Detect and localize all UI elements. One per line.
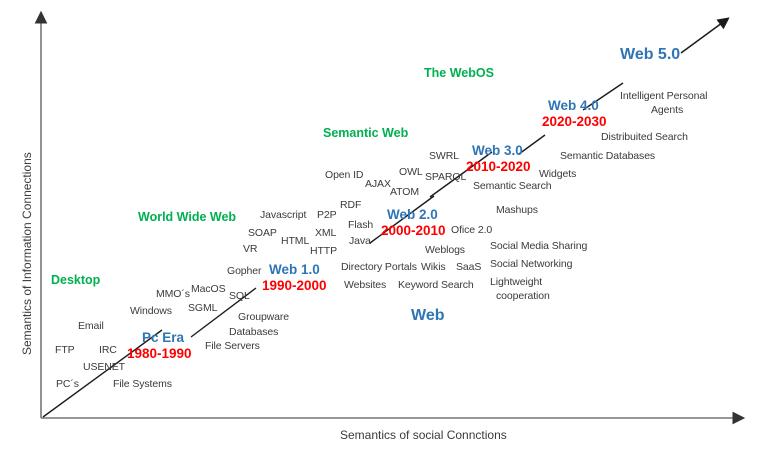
term-vr: VR: [243, 243, 257, 255]
term-open-id: Open ID: [325, 169, 363, 181]
heading-web: Web: [411, 307, 444, 325]
term-windows: Windows: [130, 305, 172, 317]
trend-segment-web4: [519, 135, 545, 154]
term-keyword-search: Keyword Search: [398, 279, 474, 291]
term-java: Java: [349, 235, 371, 247]
term-p2p: P2P: [317, 209, 337, 221]
trend-segment-arrow: [681, 20, 726, 53]
term-macos: MacOS: [191, 283, 226, 295]
term-xml: XML: [315, 227, 336, 239]
term-atom: ATOM: [390, 186, 419, 198]
term-social-media-sharing: Social Media Sharing: [490, 240, 587, 252]
heading-world-wide-web: World Wide Web: [138, 210, 236, 224]
term-saas: SaaS: [456, 261, 481, 273]
era-web5-title: Web 5.0: [620, 47, 680, 62]
term-weblogs: Weblogs: [425, 244, 465, 256]
term-mmos: MMO´s: [156, 288, 190, 300]
term-owl: OWL: [399, 166, 423, 178]
term-usenet: USENET: [83, 361, 125, 373]
term-databases: Databases: [229, 326, 278, 338]
term-html: HTML: [281, 235, 309, 247]
era-web3-title: Web 3.0: [472, 143, 523, 158]
term-swrl: SWRL: [429, 150, 459, 162]
term-widgets: Widgets: [539, 168, 576, 180]
term-directory-portals: Directory Portals: [341, 261, 417, 273]
era-web2-years: 2000-2010: [381, 223, 446, 238]
term-mashups: Mashups: [496, 204, 538, 216]
term-ajax: AJAX: [365, 178, 391, 190]
term-agents: Agents: [651, 104, 683, 116]
term-lightweight: Lightweight: [490, 276, 542, 288]
term-pcs: PC´s: [56, 378, 79, 390]
era-pc-era-years: 1980-1990: [127, 346, 192, 361]
term-distribuited-search: Distribuited Search: [601, 131, 688, 143]
term-irc: IRC: [99, 344, 117, 356]
term-gopher: Gopher: [227, 265, 261, 277]
era-web1-years: 1990-2000: [262, 278, 327, 293]
diagram-canvas: Semantics of Information Connections Sem…: [0, 0, 761, 450]
term-semantic-search: Semantic Search: [473, 180, 551, 192]
term-flash: Flash: [348, 219, 373, 231]
heading-desktop: Desktop: [51, 273, 100, 287]
heading-semantic-web: Semantic Web: [323, 126, 408, 140]
era-web3-years: 2010-2020: [466, 159, 531, 174]
era-web1-title: Web 1.0: [269, 262, 320, 277]
era-web2-title: Web 2.0: [387, 207, 438, 222]
term-sgml: SGML: [188, 302, 217, 314]
term-ofice20: Ofice 2.0: [451, 224, 492, 236]
term-semantic-databases: Semantic Databases: [560, 150, 655, 162]
x-axis-title: Semantics of social Connctions: [340, 428, 507, 442]
term-file-servers: File Servers: [205, 340, 260, 352]
era-pc-era-title: Pc Era: [142, 330, 184, 345]
term-javascript: Javascript: [260, 209, 306, 221]
term-social-networking: Social Networking: [490, 258, 572, 270]
term-groupware: Groupware: [238, 311, 289, 323]
era-web4-years: 2020-2030: [542, 114, 607, 129]
term-rdf: RDF: [340, 199, 361, 211]
term-intelligent-personal: Intelligent Personal: [620, 90, 707, 102]
term-ftp: FTP: [55, 344, 75, 356]
term-http: HTTP: [310, 245, 337, 257]
era-web4-title: Web 4.0: [548, 98, 599, 113]
term-sql: SQL: [229, 290, 250, 302]
term-email: Email: [78, 320, 104, 332]
term-file-systems: File Systems: [113, 378, 172, 390]
term-cooperation: cooperation: [496, 290, 550, 302]
heading-the-webos: The WebOS: [424, 66, 494, 80]
term-sparql: SPARQL: [425, 171, 466, 183]
y-axis-title: Semantics of Information Connections: [20, 152, 34, 355]
term-wikis: Wikis: [421, 261, 446, 273]
term-websites: Websites: [344, 279, 386, 291]
term-soap: SOAP: [248, 227, 277, 239]
